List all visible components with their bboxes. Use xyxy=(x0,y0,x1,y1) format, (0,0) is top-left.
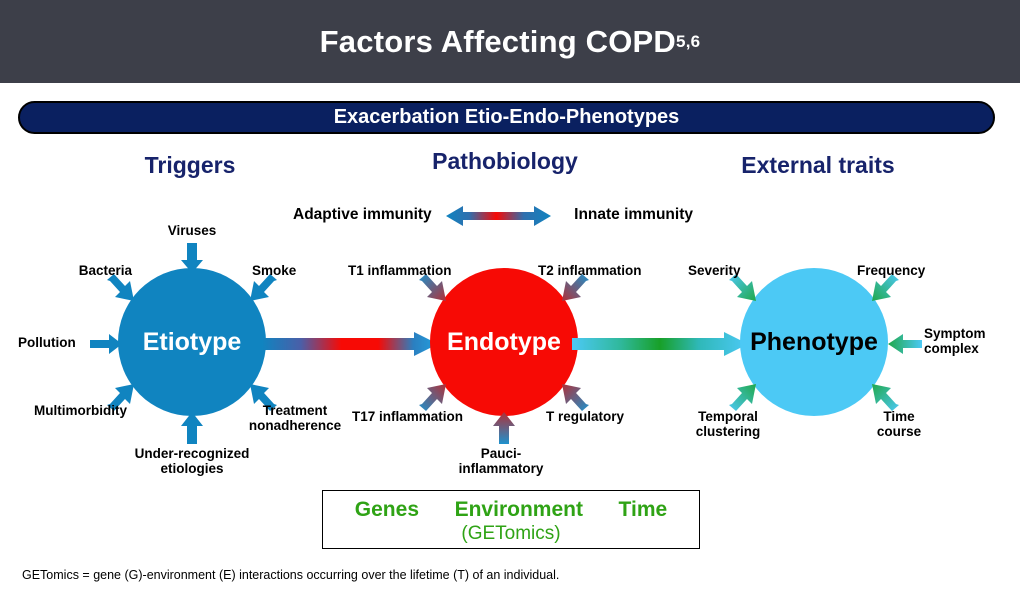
node-endotype-label: Endotype xyxy=(447,328,561,357)
double-headed-arrow-icon xyxy=(446,203,551,229)
arrow-frequency-icon xyxy=(866,274,900,306)
getomics-word-row: Genes Environment Time xyxy=(323,498,699,522)
label-viruses: Viruses xyxy=(144,223,240,238)
label-multimorbidity: Multimorbidity xyxy=(34,403,164,418)
slide-canvas: Factors Affecting COPD5,6 Exacerbation E… xyxy=(0,0,1020,598)
arrow-t2-inflammation-icon xyxy=(556,274,590,306)
arrow-time-course-icon xyxy=(866,379,900,411)
header-bar: Factors Affecting COPD5,6 xyxy=(0,0,1020,83)
connector-etiotype-to-endotype-icon xyxy=(262,331,438,357)
label-smoke: Smoke xyxy=(252,263,328,278)
page-title: Factors Affecting COPD5,6 xyxy=(0,0,1020,83)
label-pauci-inflammatory: Pauci-inflammatory xyxy=(442,446,560,476)
label-pollution: Pollution xyxy=(18,335,98,350)
label-symptom-complex: Symptom complex xyxy=(924,326,1014,356)
label-t1-inflammation: T1 inflammation xyxy=(348,263,468,278)
label-t-regulatory: T regulatory xyxy=(546,409,646,424)
arrow-temporal-clustering-icon xyxy=(728,379,762,411)
label-frequency: Frequency xyxy=(857,263,953,278)
arrow-t17-inflammation-icon xyxy=(418,379,452,411)
section-banner-label: Exacerbation Etio-Endo-Phenotypes xyxy=(334,106,680,129)
getomics-box: Genes Environment Time (GETomics) xyxy=(322,490,700,549)
label-bacteria: Bacteria xyxy=(48,263,132,278)
label-severity: Severity xyxy=(688,263,768,278)
arrow-severity-icon xyxy=(728,274,762,306)
column-heading-triggers: Triggers xyxy=(90,152,290,179)
arrow-pauci-inflammatory-icon xyxy=(493,412,515,444)
label-time-course: Time course xyxy=(862,409,936,439)
getomics-time: Time xyxy=(619,498,668,522)
innate-immunity-label: Innate immunity xyxy=(574,206,693,224)
column-heading-external-traits: External traits xyxy=(718,152,918,179)
immunity-axis: Adaptive immunity Innate immunity xyxy=(293,203,693,229)
footnote: GETomics = gene (G)-environment (E) inte… xyxy=(22,568,559,582)
section-banner: Exacerbation Etio-Endo-Phenotypes xyxy=(18,101,995,134)
adaptive-immunity-label: Adaptive immunity xyxy=(293,206,432,224)
arrow-viruses-icon xyxy=(181,243,203,273)
getomics-subtitle: (GETomics) xyxy=(323,523,699,545)
node-etiotype-label: Etiotype xyxy=(143,328,242,357)
node-phenotype-label: Phenotype xyxy=(750,328,878,357)
arrow-bacteria-icon xyxy=(106,274,140,306)
label-t2-inflammation: T2 inflammation xyxy=(538,263,660,278)
label-temporal-clustering: Temporal clustering xyxy=(678,409,778,439)
label-under-recognized-etiologies: Under-recognized etiologies xyxy=(110,446,274,476)
arrow-under-recognized-etiologies-icon xyxy=(181,412,203,444)
arrow-symptom-complex-icon xyxy=(888,334,922,354)
getomics-genes: Genes xyxy=(355,498,419,522)
label-t17-inflammation: T17 inflammation xyxy=(352,409,480,424)
arrow-t-regulatory-icon xyxy=(556,379,590,411)
label-treatment-nonadherence: Treatment nonadherence xyxy=(243,403,347,433)
arrow-smoke-icon xyxy=(244,274,278,306)
connector-endotype-to-phenotype-icon xyxy=(572,331,748,357)
page-title-text: Factors Affecting COPD xyxy=(320,24,676,60)
arrow-t1-inflammation-icon xyxy=(418,274,452,306)
column-heading-pathobiology: Pathobiology xyxy=(405,148,605,175)
getomics-environment: Environment xyxy=(455,498,583,522)
